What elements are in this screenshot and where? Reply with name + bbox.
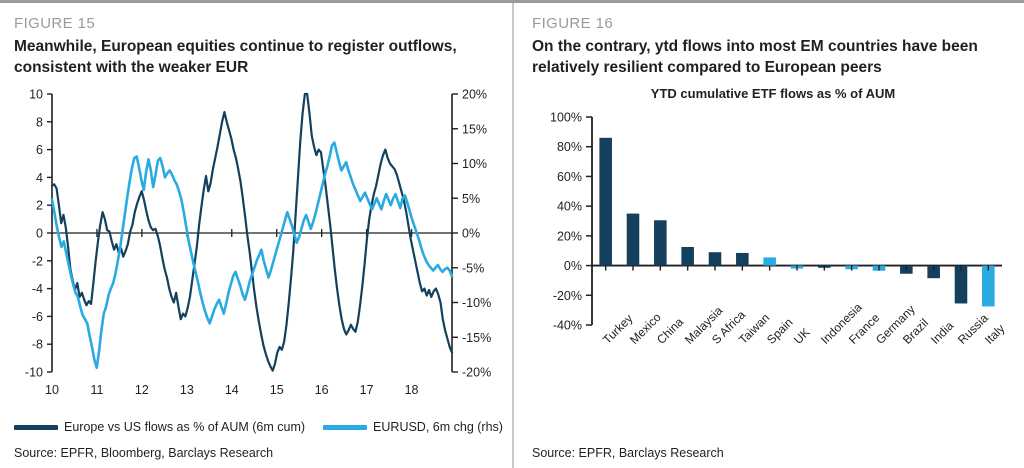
x-axis-tick: 13 (180, 383, 194, 397)
left-axis-tick: -10 (25, 366, 43, 380)
legend-label-navy: Europe vs US flows as % of AUM (6m cum) (64, 420, 305, 434)
line-series-navy (52, 94, 452, 371)
left-axis-tick: 6 (36, 143, 43, 157)
bar (654, 220, 667, 265)
bar (982, 266, 995, 307)
left-axis-tick: 8 (36, 116, 43, 130)
right-axis-tick: -20% (462, 366, 491, 380)
line-series-lightblue (52, 143, 452, 368)
right-axis-tick: 0% (462, 227, 480, 241)
right-axis-tick: -5% (462, 261, 484, 275)
figure-16-label: FIGURE 16 (532, 15, 1014, 32)
x-axis-tick: 12 (135, 383, 149, 397)
figure-15-source: Source: EPFR, Bloomberg, Barclays Resear… (14, 446, 273, 460)
legend-label-lightblue: EURUSD, 6m chg (rhs) (373, 420, 503, 434)
x-axis-tick: 15 (270, 383, 284, 397)
left-axis-tick: -8 (32, 338, 43, 352)
left-axis-tick: 4 (36, 171, 43, 185)
figures-page: FIGURE 15 Meanwhile, European equities c… (0, 0, 1024, 468)
bar (709, 252, 722, 265)
bar-y-axis-tick: 80% (557, 140, 582, 154)
left-axis-tick: 10 (29, 88, 43, 102)
bar-chart-title: YTD cumulative ETF flows as % of AUM (532, 86, 1014, 101)
x-axis-tick: 10 (45, 383, 59, 397)
right-axis-tick: 5% (462, 192, 480, 206)
x-axis-tick: 14 (225, 383, 239, 397)
right-axis-tick: 15% (462, 122, 487, 136)
left-axis-tick: -4 (32, 282, 43, 296)
bar (955, 266, 968, 304)
legend-entry-lightblue: EURUSD, 6m chg (rhs) (323, 420, 503, 434)
right-axis-tick: -15% (462, 331, 491, 345)
bar-y-axis-tick: 0% (564, 259, 582, 273)
bar (627, 214, 640, 266)
bar (736, 253, 749, 266)
bar-y-axis-tick: -20% (553, 289, 582, 303)
x-axis-tick: 16 (315, 383, 329, 397)
figure-16-panel: FIGURE 16 On the contrary, ytd flows int… (512, 3, 1024, 468)
figure-15-title: Meanwhile, European equities continue to… (14, 37, 502, 78)
left-axis-tick: -2 (32, 255, 43, 269)
bar (681, 247, 694, 266)
figure-16-source: Source: EPFR, Barclays Research (532, 446, 724, 460)
figure-15-label: FIGURE 15 (14, 15, 502, 32)
combo-chart-legend: Europe vs US flows as % of AUM (6m cum) … (14, 420, 506, 434)
legend-swatch-lightblue (323, 425, 367, 430)
bar-chart-container: 100%80%60%40%20%0%-20%-40% TurkeyMexicoC… (532, 105, 1010, 395)
bar-y-axis-tick: 60% (557, 170, 582, 184)
figure-16-title: On the contrary, ytd flows into most EM … (532, 37, 1014, 78)
bar-y-axis-tick: -40% (553, 319, 582, 333)
left-axis-tick: 2 (36, 199, 43, 213)
bar (599, 138, 612, 266)
x-axis-tick: 17 (360, 383, 374, 397)
bar-y-axis-tick: 40% (557, 200, 582, 214)
right-axis-tick: -10% (462, 296, 491, 310)
legend-entry-navy: Europe vs US flows as % of AUM (6m cum) (14, 420, 305, 434)
legend-swatch-navy (14, 425, 58, 430)
right-axis-tick: 10% (462, 157, 487, 171)
left-axis-tick: -6 (32, 310, 43, 324)
left-axis-tick: 0 (36, 227, 43, 241)
bar-y-axis-tick: 20% (557, 230, 582, 244)
right-axis-tick: 20% (462, 88, 487, 102)
combo-chart-svg: 1086420-2-4-6-8-1020%15%10%5%0%-5%-10%-1… (14, 84, 512, 402)
bar-chart-svg: 100%80%60%40%20%0%-20%-40% (532, 105, 1010, 395)
combo-chart-container: 1086420-2-4-6-8-1020%15%10%5%0%-5%-10%-1… (14, 84, 512, 402)
bar-y-axis-tick: 100% (550, 111, 582, 125)
x-axis-tick: 18 (405, 383, 419, 397)
bar (763, 258, 776, 266)
x-axis-tick: 11 (90, 383, 103, 397)
figure-15-panel: FIGURE 15 Meanwhile, European equities c… (0, 3, 512, 468)
